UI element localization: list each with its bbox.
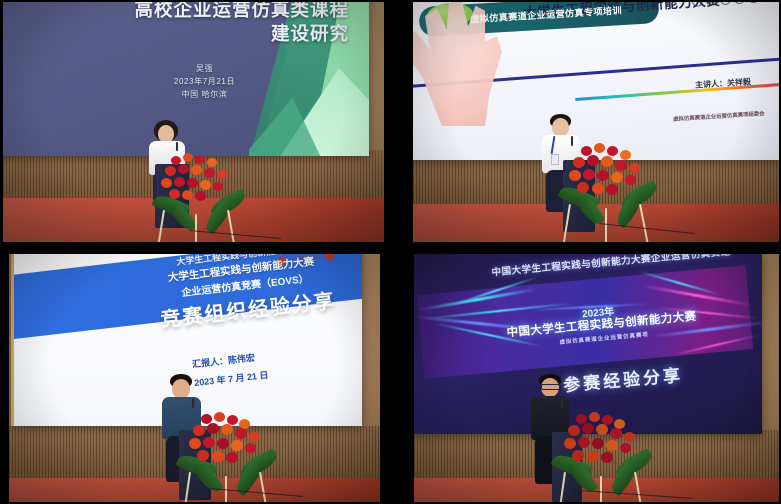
neon-graphics (414, 254, 762, 434)
photo-panel-bottom-left[interactable]: 中国高等教育学会 大学生工程实践与创新能力大赛 大学生工程实践与创新能力大赛 企… (9, 254, 380, 502)
conference-room-scene: 大学生工程实践与创新能力大赛 虚拟仿真赛道企业运营仿真专项培训 主讲人：关祥毅 … (413, 2, 779, 242)
microphone (192, 398, 194, 408)
photo-panel-bottom-right[interactable]: 中国大学生工程实践与创新能力大赛企业运营仿真赛道 2023年 中国大学生工程实践… (414, 254, 779, 502)
microphone (561, 398, 563, 408)
conference-room-scene: 高校企业运营仿真类课程 建设研究 吴强 2023年7月21日 中国 哈尔滨 (3, 2, 384, 242)
led-screen-panel-4: 中国大学生工程实践与创新能力大赛企业运营仿真赛道 2023年 中国大学生工程实践… (414, 254, 762, 434)
microphone (176, 142, 178, 151)
speaker-head (172, 379, 190, 399)
slide-reporter-label: 汇报人：陈伟宏 (191, 351, 255, 371)
led-screen-panel-2: 大学生工程实践与创新能力大赛 虚拟仿真赛道企业运营仿真专项培训 主讲人：关祥毅 … (413, 2, 779, 160)
badge (551, 154, 559, 165)
flower-arrangement-panel-4 (552, 412, 652, 502)
slide-organization-label: 虚拟仿真赛道企业运营仿真赛项组委会 (673, 109, 765, 123)
glasses-icon (541, 384, 561, 390)
flower-arrangement-panel-2 (559, 142, 659, 240)
slide-subtitle-panel-1: 吴强 2023年7月21日 中国 哈尔滨 (117, 62, 292, 102)
photo-panel-top-left[interactable]: 高校企业运营仿真类课程 建设研究 吴强 2023年7月21日 中国 哈尔滨 (3, 2, 384, 242)
photo-panel-top-right[interactable]: 大学生工程实践与创新能力大赛 虚拟仿真赛道企业运营仿真专项培训 主讲人：关祥毅 … (413, 2, 779, 242)
flower-arrangement-panel-1 (151, 152, 249, 242)
conference-room-scene: 中国大学生工程实践与创新能力大赛企业运营仿真赛道 2023年 中国大学生工程实践… (414, 254, 779, 502)
conference-room-scene: 中国高等教育学会 大学生工程实践与创新能力大赛 大学生工程实践与创新能力大赛 企… (9, 254, 380, 502)
slide-title-panel-1: 高校企业运营仿真类课程 建设研究 (39, 2, 349, 45)
photo-grid: 高校企业运营仿真类课程 建设研究 吴强 2023年7月21日 中国 哈尔滨 (0, 0, 781, 504)
